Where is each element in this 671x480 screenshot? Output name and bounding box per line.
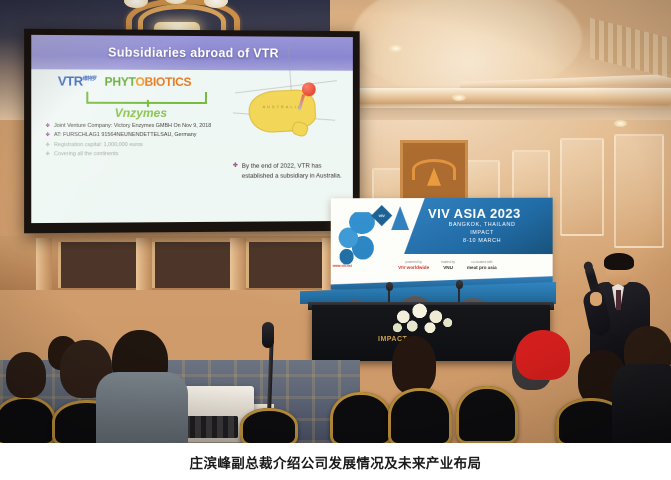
banner-line-dates: 8-10 MARCH	[436, 238, 528, 246]
wall-dark-panel	[246, 242, 330, 288]
bullet-marker-icon: ✤	[46, 131, 50, 139]
sponsor-role: hosted by	[441, 260, 455, 264]
sponsor-role: powered by	[405, 260, 421, 264]
viv-website-url: www.viv.net	[333, 264, 352, 268]
bullet-marker-icon: ✤	[233, 162, 238, 182]
viv-logo-icon: VIV	[374, 206, 408, 230]
slide-logo-row: VTR维特罗 PHYTOBIOTICS	[58, 73, 249, 89]
projection-screen-frame: Subsidiaries abroad of VTR VTR维特罗 PHYTOB…	[24, 29, 360, 234]
sponsor-name: VIV worldwide	[398, 265, 429, 272]
bullet-text: Registration capital: 1,000,000 euros	[54, 141, 143, 150]
audience-chair	[330, 392, 392, 443]
article-image-block: Subsidiaries abroad of VTR VTR维特罗 PHYTOB…	[0, 0, 671, 480]
sponsor-entry: powered by VIV worldwide	[398, 260, 429, 272]
vtr-logo-cn: 维特罗	[83, 76, 97, 82]
sponsor-entry: co-located with meat pro asia	[467, 260, 497, 272]
viv-diamond-icon: VIV	[371, 205, 392, 226]
viv-asia-banner: www.viv.net VIV VIV ASIA 2023 BANGKOK, T…	[331, 198, 553, 291]
phytobiotics-logo: PHYTOBIOTICS	[105, 74, 192, 88]
presentation-slide: Subsidiaries abroad of VTR VTR维特罗 PHYTOB…	[31, 35, 353, 223]
audience-chair	[0, 396, 56, 443]
vnzymes-logo: Vnzymes	[115, 106, 167, 120]
slide-bullet: ✤ AT: FURSCHLAG1 91564NEUNENDETTELSAU, G…	[46, 131, 229, 139]
audience-chair	[388, 388, 452, 443]
audience-torso	[612, 364, 671, 443]
australia-map-graphic: AUSTRALIA	[231, 72, 347, 152]
ceiling-downlight	[452, 94, 466, 101]
conference-photo: Subsidiaries abroad of VTR VTR维特罗 PHYTOB…	[0, 0, 671, 443]
australia-note-text: By the end of 2022, VTR has established …	[242, 162, 343, 182]
slide-bullet: ✤ Registration capital: 1,000,000 euros	[46, 141, 229, 150]
wall-panel	[614, 134, 664, 248]
audience-head-red-hat	[516, 330, 570, 380]
slide-title-bar: Subsidiaries abroad of VTR	[31, 35, 353, 71]
wall-dark-panel	[58, 242, 144, 288]
cornice	[330, 88, 671, 104]
wall-pilaster	[230, 238, 246, 290]
viv-sail-icon	[391, 206, 409, 230]
wall-pilaster	[36, 238, 52, 290]
map-pin-icon	[302, 82, 316, 96]
wall-dark-panel	[152, 242, 238, 288]
bullet-text: AT: FURSCHLAG1 91564NEUNENDETTELSAU, Ger…	[54, 131, 197, 139]
joint-venture-bracket	[86, 92, 207, 104]
image-caption: 庄滨峰副总裁介绍公司发展情况及未来产业布局	[190, 452, 482, 472]
bullet-text: Covering all the continents	[54, 150, 118, 159]
wall-pilaster	[136, 238, 152, 290]
wall-panel	[560, 138, 604, 236]
phytobiotics-logo-bio: BIOTICS	[145, 74, 192, 88]
sponsor-name: VNU	[441, 265, 455, 272]
sponsor-name: meat pro asia	[467, 265, 497, 272]
ceiling-downlight	[614, 120, 627, 127]
audience-head	[6, 352, 46, 398]
banner-title: VIV ASIA 2023	[428, 206, 521, 221]
banner-line-location: BANGKOK, THAILAND	[436, 222, 528, 230]
vtr-logo: VTR维特罗	[58, 73, 97, 88]
viv-logo-text: VIV	[377, 211, 386, 220]
slide-bullet-list: ✤ Joint Venture Company: Victory Enzymes…	[46, 122, 229, 160]
bullet-marker-icon: ✤	[46, 122, 50, 130]
bullet-marker-icon: ✤	[46, 141, 50, 149]
ceiling-downlight	[388, 44, 404, 53]
audience-torso	[96, 372, 188, 443]
speaker-tie	[616, 290, 621, 310]
caption-area: 庄滨峰副总裁介绍公司发展情况及未来产业布局	[0, 443, 671, 480]
table-microphone-icon	[386, 282, 393, 291]
speaker-hair	[604, 253, 634, 270]
boom-microphone-icon	[262, 322, 274, 348]
phytobiotics-logo-o: O	[135, 74, 144, 88]
audience-chair	[456, 386, 518, 443]
audience-chair	[240, 408, 298, 443]
medallion-flame	[427, 168, 441, 186]
slide-body: VTR维特罗 PHYTOBIOTICS Vnzymes ✤ Joint Vent…	[31, 69, 353, 223]
audience-head	[392, 336, 436, 394]
slide-bullet: ✤ Joint Venture Company: Victory Enzymes…	[46, 122, 229, 130]
australia-note: ✤ By the end of 2022, VTR has establishe…	[233, 162, 343, 182]
speaker-hand	[590, 292, 602, 306]
bullet-text: Joint Venture Company: Victory Enzymes G…	[54, 122, 211, 130]
table-microphone-icon	[456, 280, 463, 289]
banner-line-venue: IMPACT	[436, 230, 528, 238]
bullet-marker-icon: ✤	[46, 150, 50, 158]
australia-map-label: AUSTRALIA	[263, 104, 303, 109]
slide-bullet: ✤ Covering all the continents	[46, 150, 229, 159]
slide-title: Subsidiaries abroad of VTR	[108, 45, 279, 60]
sponsor-role: co-located with	[471, 260, 492, 264]
banner-subtitle: BANGKOK, THAILAND IMPACT 8-10 MARCH	[436, 222, 528, 246]
sponsor-entry: hosted by VNU	[441, 260, 455, 272]
